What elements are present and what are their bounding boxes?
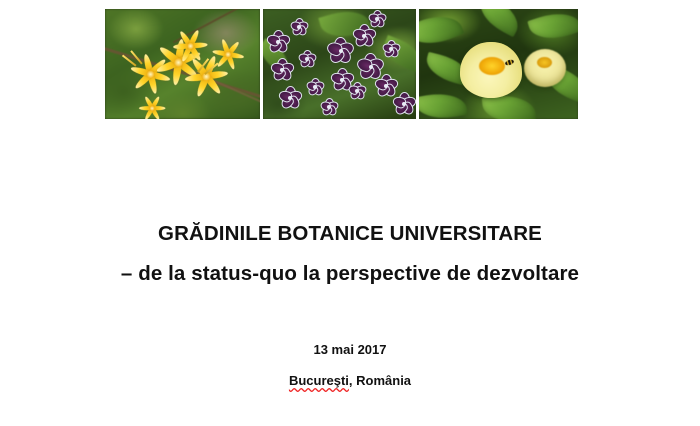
purple-lilac-photo: [263, 9, 416, 119]
lilac-floret: [269, 57, 295, 83]
event-date: 13 mai 2017: [0, 341, 700, 359]
slide-text-block: GRĂDINILE BOTANICE UNIVERSITARE – de la …: [0, 205, 700, 390]
lilac-floret: [305, 77, 325, 97]
lilac-floret: [381, 39, 401, 59]
lilac-floret: [265, 29, 291, 55]
image-strip: [105, 9, 578, 119]
lilac-floret: [347, 81, 367, 101]
yellow-peony-photo: [419, 9, 578, 119]
page-subtitle: – de la status-quo la perspective de dez…: [0, 259, 700, 289]
lilac-floret: [277, 85, 303, 111]
lilac-floret: [297, 49, 317, 69]
lilac-floret: [391, 91, 416, 117]
event-country: România: [356, 373, 411, 388]
event-location: Bucureşti, România: [0, 372, 700, 390]
yellow-azalea-photo: [105, 9, 260, 119]
lilac-floret: [319, 97, 339, 117]
page-title: GRĂDINILE BOTANICE UNIVERSITARE: [0, 219, 700, 249]
event-city: Bucureşti: [289, 373, 349, 388]
lilac-floret: [289, 17, 309, 37]
lilac-floret: [367, 9, 387, 29]
